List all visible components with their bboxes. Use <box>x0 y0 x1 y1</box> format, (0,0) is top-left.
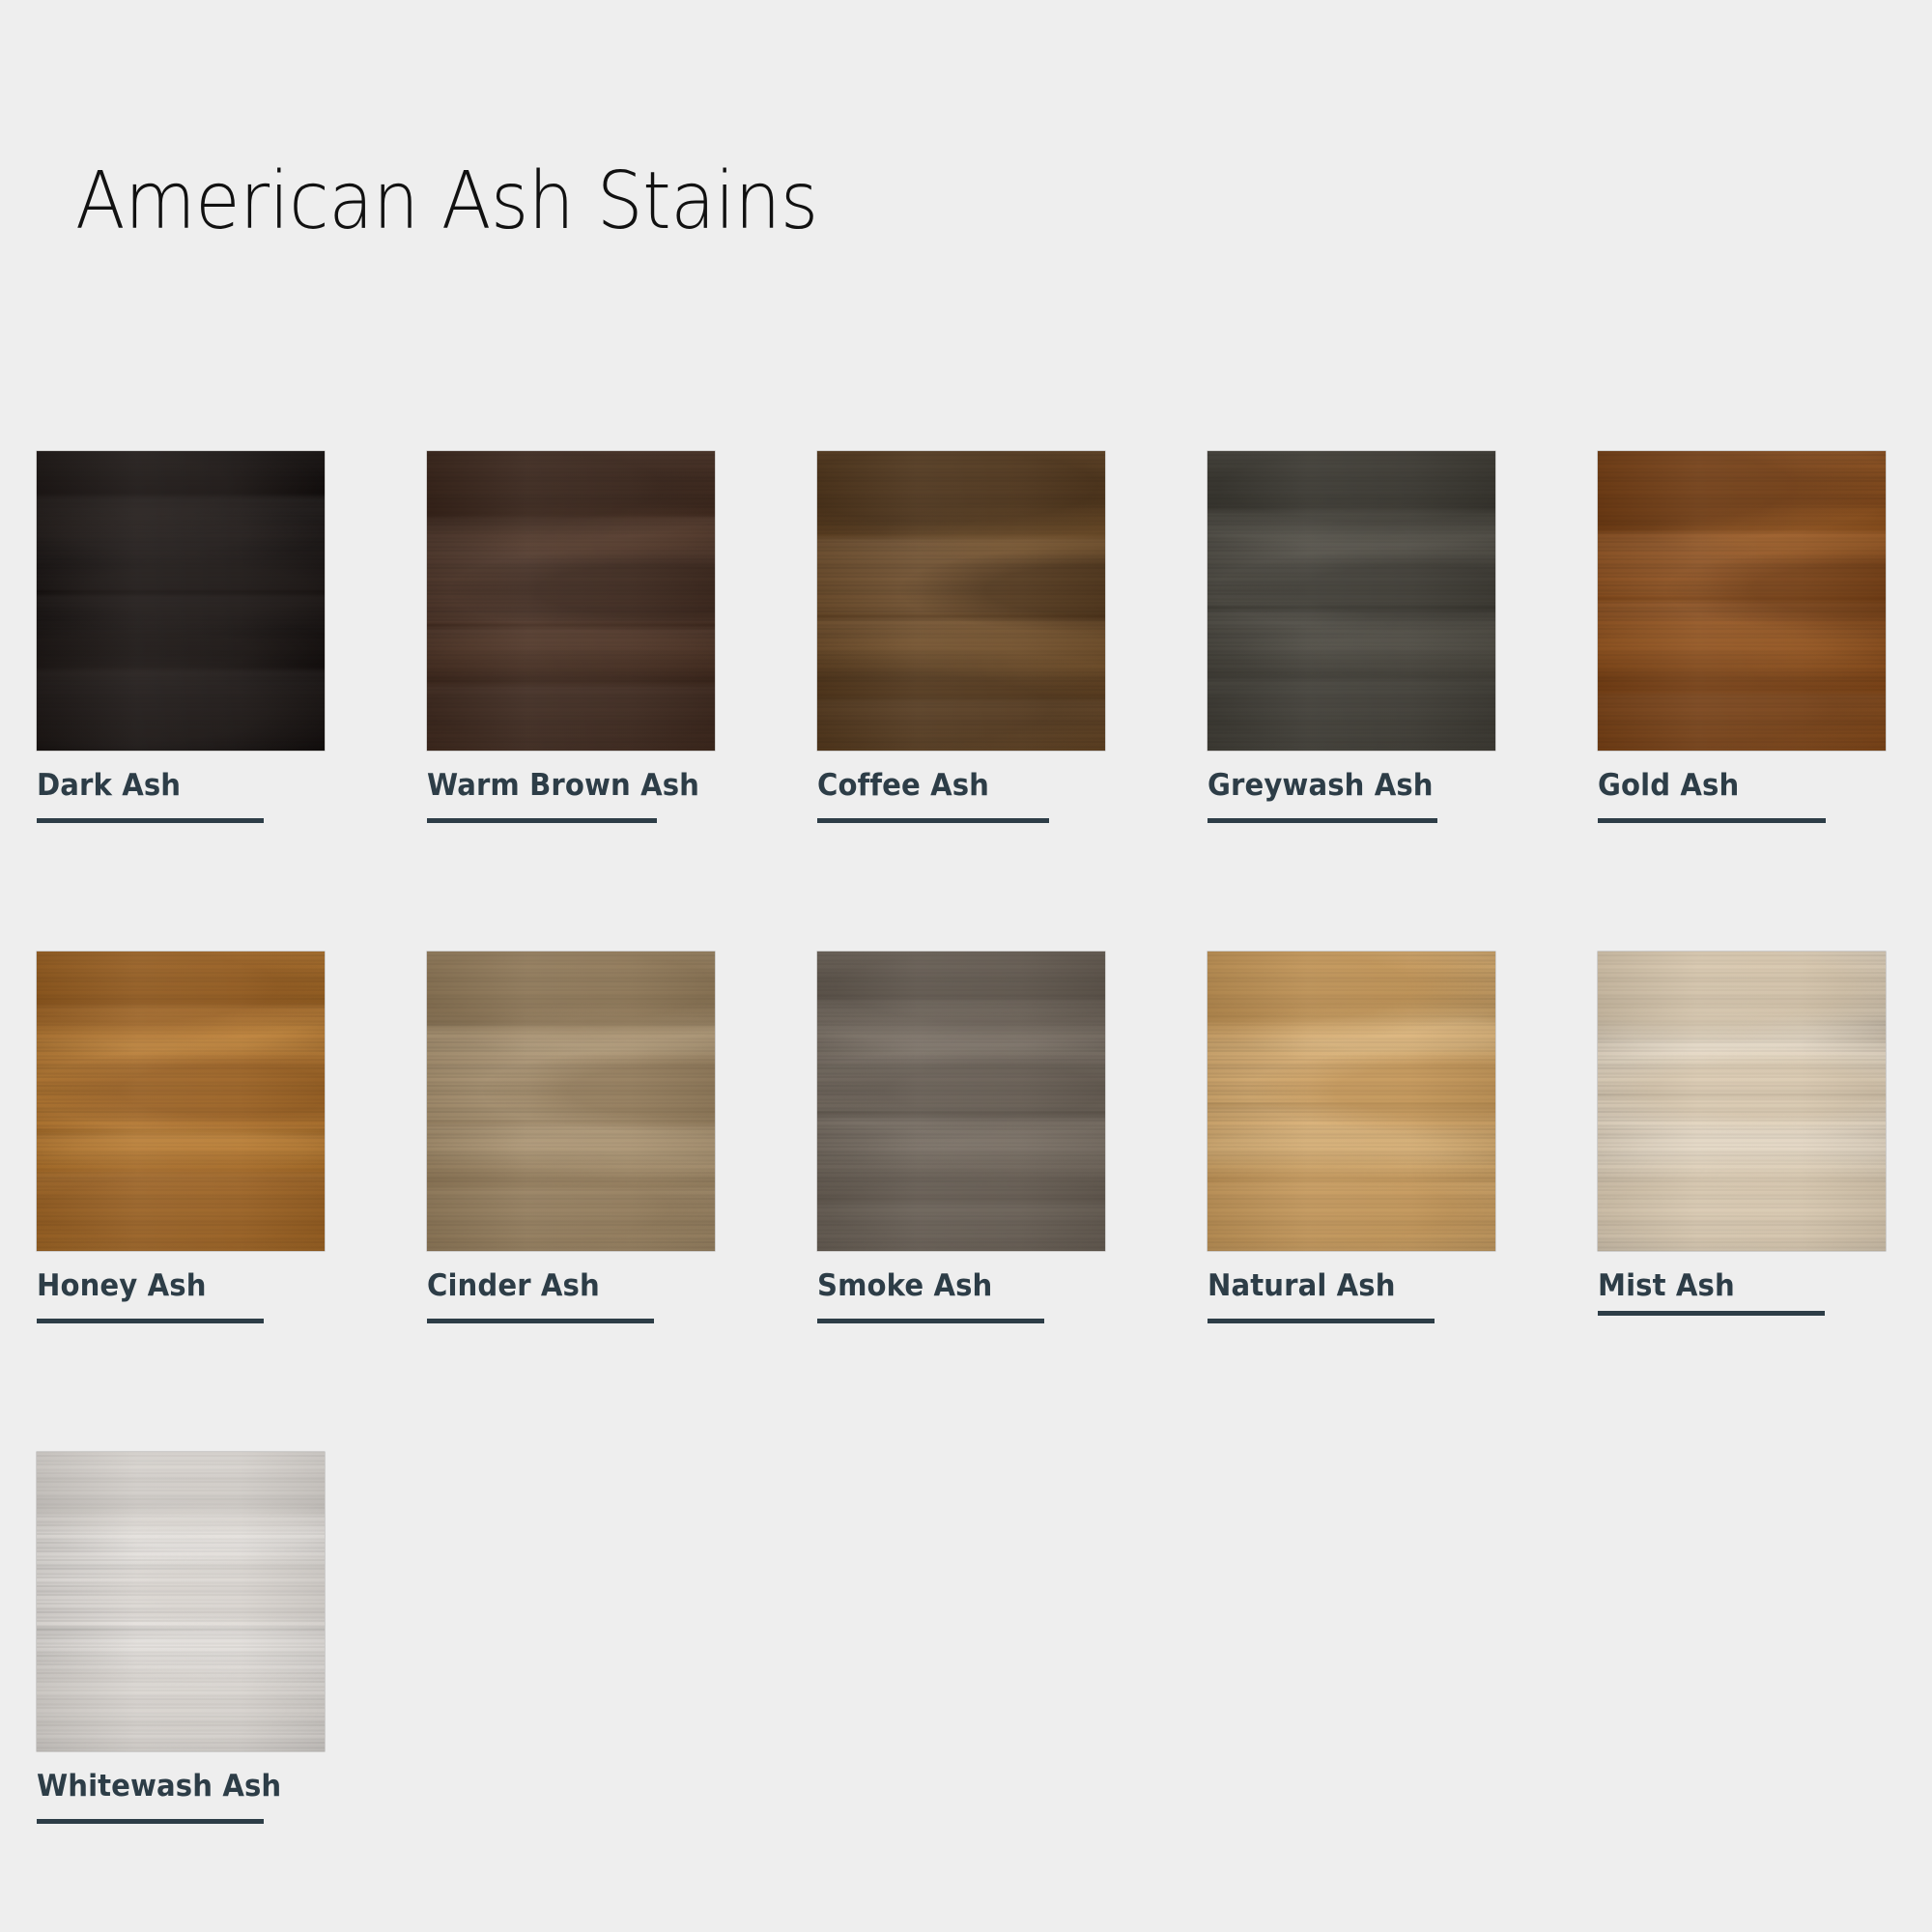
swatch-underline <box>37 1819 264 1824</box>
swatch-sheen <box>37 952 325 1251</box>
swatch-underline <box>817 1319 1044 1323</box>
swatch-underline <box>1598 818 1826 823</box>
stain-swatch-chip[interactable] <box>817 451 1105 751</box>
swatch-cell[interactable]: Warm Brown Ash <box>427 451 715 823</box>
swatch-cell[interactable]: Honey Ash <box>37 952 325 1323</box>
stain-swatch-chip[interactable] <box>37 952 325 1251</box>
swatch-sheen <box>1207 451 1495 751</box>
swatch-cell[interactable]: Smoke Ash <box>817 952 1105 1323</box>
swatch-underline <box>427 1319 654 1323</box>
swatch-sheen <box>37 1452 325 1751</box>
swatch-underline <box>1207 818 1437 823</box>
page-title: American Ash Stains <box>75 162 818 241</box>
swatch-cell[interactable]: Whitewash Ash <box>37 1452 325 1824</box>
swatch-label: Mist Ash <box>1598 1268 1868 1303</box>
swatch-underline <box>427 818 657 823</box>
swatch-underline <box>37 818 264 823</box>
stain-swatch-chip[interactable] <box>427 451 715 751</box>
swatch-sheen <box>37 451 325 751</box>
swatch-label: Gold Ash <box>1598 768 1868 803</box>
swatch-cell[interactable]: Natural Ash <box>1207 952 1495 1323</box>
stain-swatch-chip[interactable] <box>1207 952 1495 1251</box>
swatch-cell[interactable]: Mist Ash <box>1598 952 1886 1323</box>
swatch-label: Whitewash Ash <box>37 1769 307 1804</box>
swatch-label: Dark Ash <box>37 768 307 803</box>
swatch-sheen <box>427 451 715 751</box>
swatch-label: Smoke Ash <box>817 1268 1088 1303</box>
swatch-sheen <box>817 952 1105 1251</box>
swatch-cell[interactable]: Greywash Ash <box>1207 451 1495 823</box>
swatch-label: Natural Ash <box>1207 1268 1478 1303</box>
swatch-label: Coffee Ash <box>817 768 1088 803</box>
swatch-label: Cinder Ash <box>427 1268 697 1303</box>
stain-swatch-chip[interactable] <box>817 952 1105 1251</box>
stain-swatch-chip[interactable] <box>1598 451 1886 751</box>
swatch-cell[interactable]: Coffee Ash <box>817 451 1105 823</box>
swatch-label: Honey Ash <box>37 1268 307 1303</box>
swatch-cell[interactable]: Cinder Ash <box>427 952 715 1323</box>
stain-swatch-chip[interactable] <box>1598 952 1886 1251</box>
swatch-underline <box>1598 1311 1825 1316</box>
swatch-underline <box>817 818 1049 823</box>
swatch-sheen <box>1598 952 1886 1251</box>
swatch-cell[interactable]: Dark Ash <box>37 451 325 823</box>
stain-swatch-chip[interactable] <box>427 952 715 1251</box>
stain-swatch-chip[interactable] <box>37 1452 325 1751</box>
swatch-sheen <box>1598 451 1886 751</box>
swatch-underline <box>37 1319 264 1323</box>
swatch-underline <box>1207 1319 1435 1323</box>
stain-swatch-chip[interactable] <box>1207 451 1495 751</box>
stain-swatch-chip[interactable] <box>37 451 325 751</box>
swatch-sheen <box>1207 952 1495 1251</box>
stain-swatch-grid: Dark AshWarm Brown AshCoffee AshGreywash… <box>37 451 1891 1824</box>
swatch-sheen <box>817 451 1105 751</box>
swatch-cell[interactable]: Gold Ash <box>1598 451 1886 823</box>
swatch-label: Warm Brown Ash <box>427 768 697 803</box>
swatch-label: Greywash Ash <box>1207 768 1478 803</box>
swatch-sheen <box>427 952 715 1251</box>
